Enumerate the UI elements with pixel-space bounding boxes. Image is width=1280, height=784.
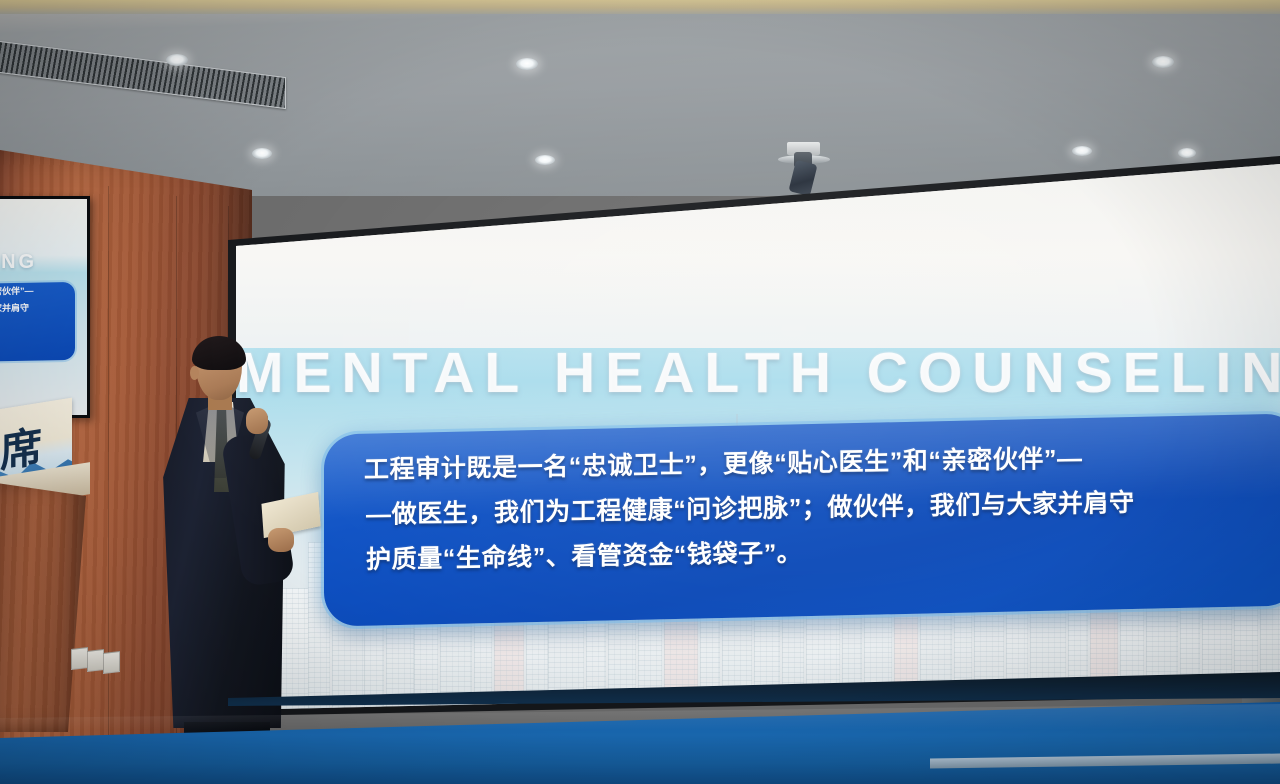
downlight-icon-1	[166, 54, 188, 66]
downlight-icon-6	[1072, 146, 1092, 156]
speaker-hand-left	[268, 528, 294, 552]
downlight-icon-2	[252, 148, 272, 159]
monitor-quote-box: 密伙伴”— 家并肩守	[0, 282, 75, 362]
downlight-icon-7	[1178, 148, 1196, 158]
downlight-icon-5	[1152, 56, 1174, 68]
monitor-quote-fragment-2: 家并肩守	[0, 299, 75, 318]
confidence-monitor-screen: ELING 密伙伴”— 家并肩守	[0, 199, 87, 415]
screenshot-root: MENTAL HEALTH COUNSELING 工程审计既是一名“忠诚卫士”，…	[0, 0, 1280, 784]
downlight-icon-3	[516, 58, 538, 70]
ceiling-cove-light	[0, 0, 1280, 14]
speaker-hand-right	[246, 408, 268, 434]
wall-outlet-1	[71, 647, 88, 670]
speaker-ear	[190, 366, 199, 380]
quote-text-block: 工程审计既是一名“忠诚卫士”，更像“贴心医生”和“亲密伙伴”— —做医生，我们为…	[364, 434, 1270, 583]
wall-outlet-2	[87, 649, 104, 672]
confidence-monitor: ELING 密伙伴”— 家并肩守	[0, 196, 90, 418]
slide-title-english: MENTAL HEALTH COUNSELING	[236, 340, 1280, 406]
downlight-icon-4	[535, 155, 555, 165]
monitor-title-fragment: ELING	[0, 251, 37, 274]
ceiling	[0, 0, 1280, 196]
speaker-hair	[192, 336, 246, 370]
slide-quote-box: 工程审计既是一名“忠诚卫士”，更像“贴心医生”和“亲密伙伴”— —做医生，我们为…	[324, 413, 1280, 626]
led-screen: MENTAL HEALTH COUNSELING 工程审计既是一名“忠诚卫士”，…	[236, 162, 1280, 710]
wall-outlet-3	[103, 651, 120, 674]
wall-seam-1	[108, 186, 109, 784]
